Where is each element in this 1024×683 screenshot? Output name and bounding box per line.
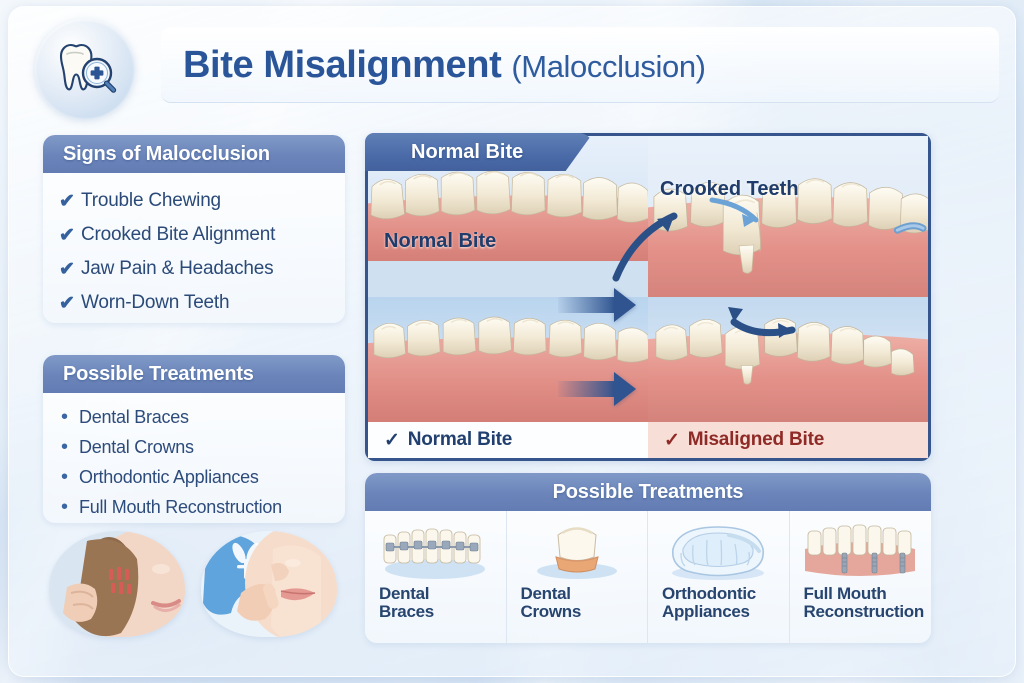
transition-arrow-head-1 [614, 288, 636, 322]
treatment-label-line1: Dental [521, 584, 571, 603]
check-icon: ✓ [384, 429, 400, 452]
treatment-card-label: OrthodonticAppliances [648, 585, 789, 622]
misaligned-bite-caption: ✓ Misaligned Bite [648, 422, 928, 458]
treatment-label-line2: Appliances [662, 602, 750, 621]
page-title-paren: (Malocclusion) [511, 49, 705, 84]
crown-icon [518, 519, 636, 581]
bite-comparison-panel: Normal Bite [365, 133, 931, 461]
treatment-label: Dental Braces [79, 407, 189, 428]
check-icon: ✔ [59, 190, 81, 213]
treatments-gallery: DentalBraces DentalCrowns [365, 511, 931, 643]
normal-bite-inline-label: Normal Bite [384, 230, 496, 253]
infographic-card: Bite Misalignment(Malocclusion) Signs of… [8, 6, 1016, 677]
comparison-grid: Normal Bite [368, 136, 928, 458]
jaw-pain-photo [49, 531, 185, 637]
list-item[interactable]: • Orthodontic Appliances [61, 462, 345, 492]
treatment-label-line1: Dental [379, 584, 429, 603]
sign-label: Trouble Chewing [81, 190, 221, 212]
list-item[interactable]: ✔ Trouble Chewing [59, 184, 345, 218]
misaligned-bite-bottom-cell[interactable]: ✓ Misaligned Bite [648, 297, 928, 458]
misaligned-bite-top-cell[interactable] [648, 136, 928, 297]
transition-arrow-tail-2 [558, 381, 616, 397]
headache-photo [201, 531, 337, 637]
transition-arrow-tail-1 [558, 297, 616, 313]
sign-label: Jaw Pain & Headaches [81, 258, 273, 280]
check-icon: ✔ [59, 258, 81, 281]
treatments-panel-header: Possible Treatments [43, 355, 345, 393]
implants-icon [801, 519, 919, 581]
treatment-card-reconstruction[interactable]: Full MouthReconstruction [790, 511, 932, 643]
check-icon: ✓ [664, 429, 680, 452]
treatment-label: Orthodontic Appliances [79, 467, 259, 488]
misaligned-bite-top-illustration [648, 136, 928, 297]
treatment-card-label: DentalBraces [365, 585, 506, 622]
header: Bite Misalignment(Malocclusion) [9, 7, 1015, 119]
treatment-label-line2: Crowns [521, 602, 582, 621]
signs-list: ✔ Trouble Chewing ✔ Crooked Bite Alignme… [43, 173, 345, 320]
aligner-icon [659, 519, 777, 581]
treatments-list: • Dental Braces • Dental Crowns • Orthod… [43, 393, 345, 522]
page-title: Bite Misalignment(Malocclusion) [183, 44, 706, 87]
transition-arrow-head-2 [614, 372, 636, 406]
treatment-card-aligner[interactable]: OrthodonticAppliances [648, 511, 790, 643]
treatment-card-label: DentalCrowns [507, 585, 648, 622]
crooked-teeth-annotation: Crooked Teeth [660, 178, 799, 201]
check-icon: ✔ [59, 224, 81, 247]
normal-bite-bottom-illustration [368, 297, 648, 422]
treatment-card-braces[interactable]: DentalBraces [365, 511, 507, 643]
normal-bite-caption: ✓ Normal Bite [368, 422, 648, 458]
treatments-gallery-header: Possible Treatments [365, 473, 931, 511]
treatment-label-line1: Orthodontic [662, 584, 756, 603]
treatment-label-line1: Full Mouth [804, 584, 887, 603]
treatment-label: Dental Crowns [79, 437, 194, 458]
title-plate: Bite Misalignment(Malocclusion) [161, 27, 999, 103]
possible-treatments-list-panel: Possible Treatments • Dental Braces • De… [43, 355, 345, 523]
signs-panel-header: Signs of Malocclusion [43, 135, 345, 173]
logo-badge [35, 19, 135, 119]
sign-label: Worn-Down Teeth [81, 292, 229, 314]
treatment-card-label: Full MouthReconstruction [790, 585, 932, 622]
page-title-main: Bite Misalignment [183, 44, 501, 86]
possible-treatments-gallery-panel: Possible Treatments [365, 473, 931, 643]
braces-icon [376, 519, 494, 581]
treatment-label-line2: Reconstruction [804, 602, 924, 621]
treatment-label-line2: Braces [379, 602, 434, 621]
list-item[interactable]: ✔ Crooked Bite Alignment [59, 218, 345, 252]
list-item[interactable]: • Dental Braces [61, 402, 345, 432]
treatment-card-crowns[interactable]: DentalCrowns [507, 511, 649, 643]
tooth-magnifier-icon [49, 33, 121, 105]
sign-label: Crooked Bite Alignment [81, 224, 275, 246]
treatment-label: Full Mouth Reconstruction [79, 497, 282, 518]
normal-bite-tab[interactable]: Normal Bite [365, 133, 593, 171]
misaligned-bite-bottom-illustration [648, 297, 928, 422]
check-icon: ✔ [59, 292, 81, 315]
caption-label: Misaligned Bite [688, 429, 824, 451]
normal-bite-bottom-cell[interactable]: ✓ Normal Bite [368, 297, 648, 458]
signs-of-malocclusion-panel: Signs of Malocclusion ✔ Trouble Chewing … [43, 135, 345, 323]
list-item[interactable]: ✔ Jaw Pain & Headaches [59, 252, 345, 286]
list-item[interactable]: • Dental Crowns [61, 432, 345, 462]
caption-label: Normal Bite [408, 429, 512, 451]
photo-strip [43, 531, 345, 643]
list-item[interactable]: ✔ Worn-Down Teeth [59, 286, 345, 320]
list-item[interactable]: • Full Mouth Reconstruction [61, 492, 345, 522]
